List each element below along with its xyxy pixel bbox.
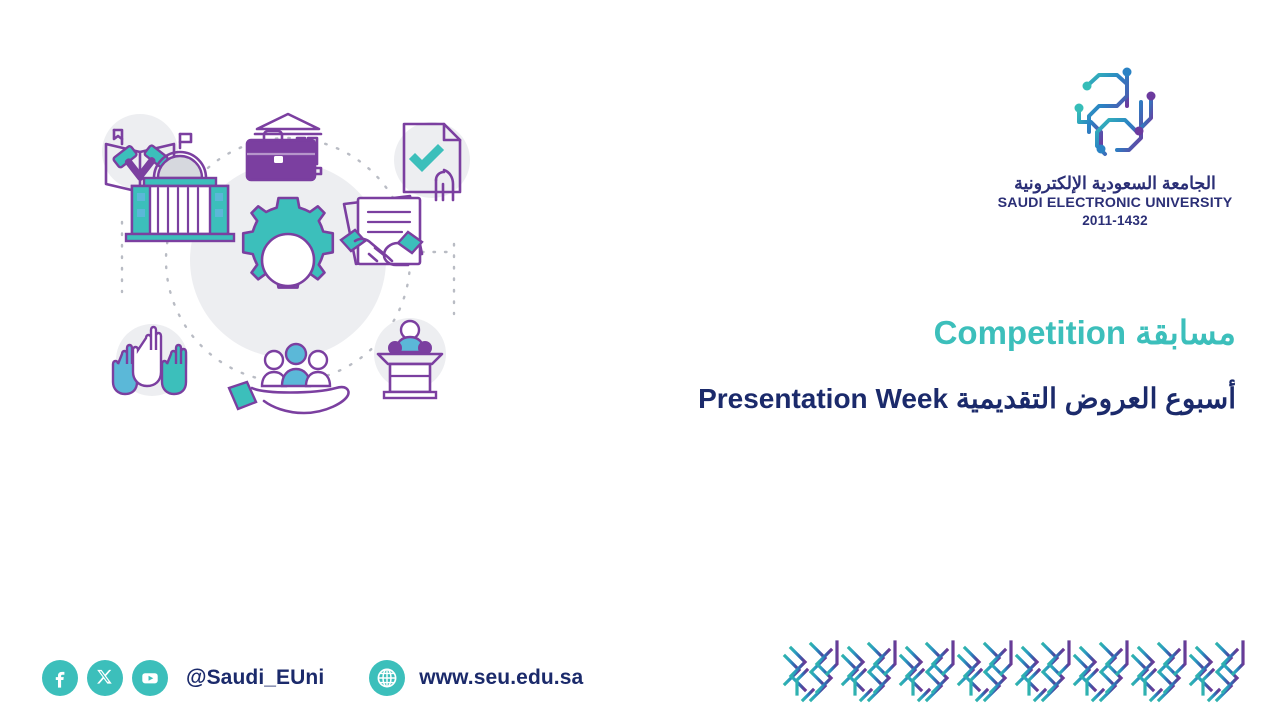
headline-main-title: مسابقة Competition xyxy=(536,312,1236,353)
headline-block: مسابقة Competition أسبوع العروض التقديمي… xyxy=(536,312,1236,416)
circuit-geometric-pattern xyxy=(781,640,1246,706)
footer-social-bar: @Saudi_EUni www.seu.edu.sa xyxy=(42,656,583,700)
social-handle: @Saudi_EUni xyxy=(186,666,324,690)
logo-arabic-name: الجامعة السعودية الإلكترونية xyxy=(985,173,1245,194)
website-url: www.seu.edu.sa xyxy=(419,666,583,690)
slide-canvas: .pl { fill:none; stroke:#7b3fa0; stroke-… xyxy=(0,0,1280,720)
youtube-icon[interactable] xyxy=(132,660,168,696)
speaker-podium-icon xyxy=(374,318,446,398)
raised-hands-icon xyxy=(113,324,188,396)
logo-english-name: SAUDI ELECTRONIC UNIVERSITY xyxy=(985,195,1245,211)
x-twitter-icon[interactable] xyxy=(87,660,123,696)
seu-circuit-logo-icon xyxy=(1065,62,1165,167)
facebook-icon[interactable] xyxy=(42,660,78,696)
logo-year: 2011-1432 xyxy=(985,213,1245,228)
briefcase-institution-icon xyxy=(247,114,321,180)
website-group[interactable]: www.seu.edu.sa xyxy=(369,660,583,696)
gear-icon xyxy=(243,198,333,288)
people-in-hand-icon xyxy=(229,344,349,413)
background-watermark xyxy=(278,594,281,605)
seu-logo-block: الجامعة السعودية الإلكترونية SAUDI ELECT… xyxy=(985,62,1245,228)
globe-icon[interactable] xyxy=(369,660,405,696)
headline-subtitle: أسبوع العروض التقديمية Presentation Week xyxy=(536,381,1236,416)
governance-process-illustration: .pl { fill:none; stroke:#7b3fa0; stroke-… xyxy=(92,92,484,422)
document-approved-hand-icon xyxy=(394,122,470,200)
